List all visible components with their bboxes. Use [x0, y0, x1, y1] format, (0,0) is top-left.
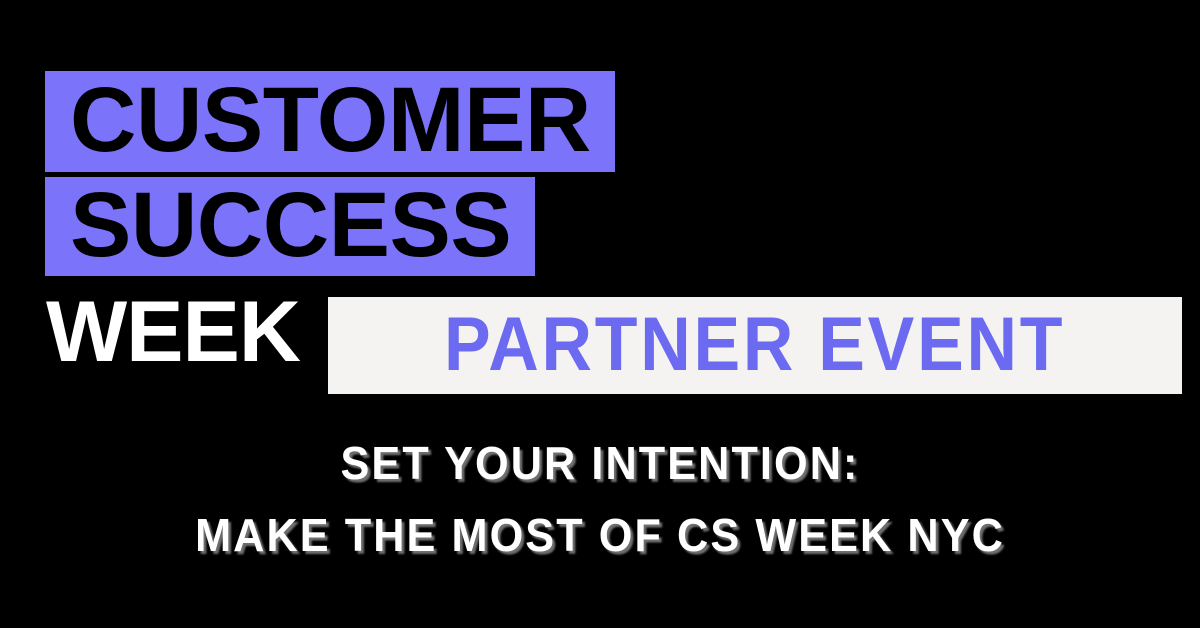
headline-text-partner-event: PARTNER EVENT: [444, 307, 1065, 383]
headline-line-success: SUCCESS: [45, 177, 535, 276]
headline-text-success: SUCCESS: [70, 179, 511, 271]
headline-line-week: WEEK: [46, 292, 300, 372]
subtitle-block: SET YOUR INTENTION: MAKE THE MOST OF CS …: [0, 432, 1200, 566]
subtitle-line-2: MAKE THE MOST OF CS WEEK NYC: [36, 504, 1164, 566]
headline-text-week: WEEK: [46, 289, 300, 375]
headline-line-customer: CUSTOMER: [45, 71, 615, 172]
headline-text-customer: CUSTOMER: [70, 74, 591, 166]
subtitle-line-1: SET YOUR INTENTION:: [36, 432, 1164, 494]
headline-block: CUSTOMER SUCCESS WEEK PARTNER EVENT: [0, 0, 1200, 400]
event-poster: CUSTOMER SUCCESS WEEK PARTNER EVENT SET …: [0, 0, 1200, 628]
headline-line-partner-event: PARTNER EVENT: [328, 297, 1182, 394]
